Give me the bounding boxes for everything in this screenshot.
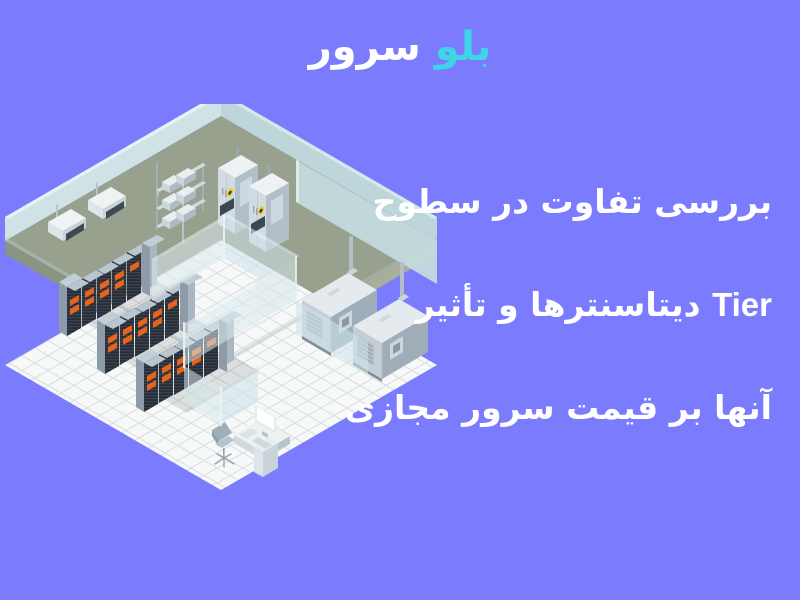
brand-logo-white: سرور <box>309 24 421 70</box>
headline-line-2-rest: دیتاسنترها و تأثیر <box>416 285 701 324</box>
headline-line-2: Tier دیتاسنترها و تأثیر <box>342 253 772 356</box>
brand-logo[interactable]: بلو سرور <box>0 24 800 70</box>
brand-logo-blue: بلو <box>435 24 491 70</box>
headline-block: بررسی تفاوت در سطوح Tier دیتاسنترها و تأ… <box>342 150 772 459</box>
poster-canvas: بلو سرور بررسی تفاوت در سطوح Tier دیتاسن… <box>0 0 800 600</box>
headline-line-1: بررسی تفاوت در سطوح <box>342 150 772 253</box>
headline-tier-keyword: Tier <box>712 286 772 323</box>
headline-line-3: آنها بر قیمت سرور مجازی <box>342 356 772 459</box>
